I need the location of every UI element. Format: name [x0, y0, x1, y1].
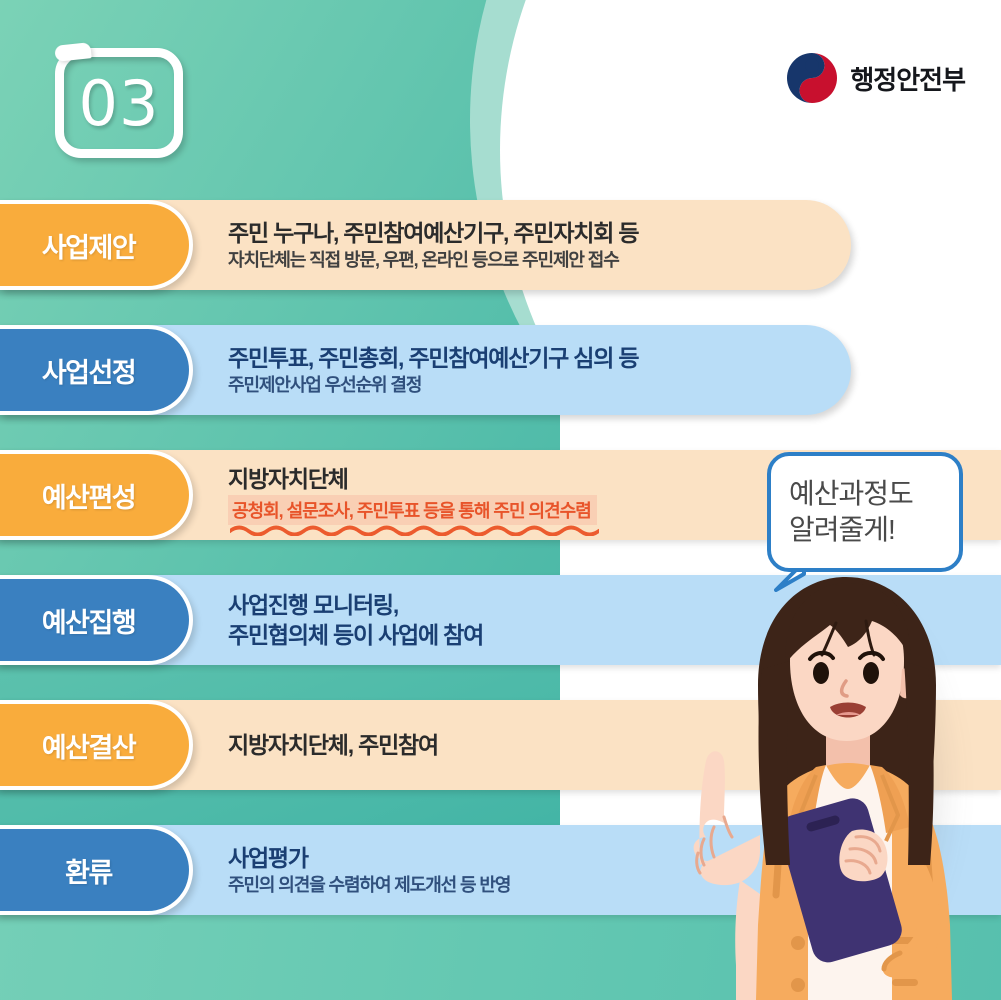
- row-label-pill[interactable]: 사업선정: [0, 325, 193, 415]
- row-highlight-text: 공청회, 설문조사, 주민투표 등을 통해 주민 의견수렴: [228, 495, 597, 525]
- row-label-pill[interactable]: 사업제안: [0, 200, 193, 290]
- process-row-1[interactable]: 사업제안 주민 누구나, 주민참여예산기구, 주민자치회 등 자치단체는 직접 …: [0, 200, 1001, 290]
- speech-bubble-line-1: 예산과정도: [789, 476, 959, 512]
- row-text: 지방자치단체, 주민참여: [228, 700, 438, 790]
- row-label-pill[interactable]: 예산편성: [0, 450, 193, 540]
- row-subtitle: 자치단체는 직접 방문, 우편, 온라인 등으로 주민제안 접수: [228, 249, 638, 272]
- speech-bubble: 예산과정도 알려줄게!: [767, 452, 963, 572]
- row-title: 주민 누구나, 주민참여예산기구, 주민자치회 등: [228, 219, 638, 247]
- ministry-logo: 행정안전부: [786, 52, 965, 104]
- speech-bubble-line-2: 알려줄게!: [789, 512, 959, 548]
- row-title: 지방자치단체, 주민참여: [228, 731, 438, 759]
- row-subtitle: 주민협의체 등이 사업에 참여: [228, 621, 483, 649]
- row-label: 사업선정: [42, 351, 135, 390]
- step-number: 03: [55, 48, 183, 158]
- row-label: 사업제안: [42, 226, 135, 265]
- row-title: 지방자치단체: [228, 465, 597, 493]
- row-label: 환류: [65, 851, 112, 890]
- infographic-canvas: 03 행정안전부 사업제안 주민 누구나, 주민참여예산기구, 주민자치회 등 …: [0, 0, 1001, 1000]
- row-text: 사업진행 모니터링, 주민협의체 등이 사업에 참여: [228, 575, 483, 665]
- row-label: 예산편성: [42, 476, 135, 515]
- row-title: 주민투표, 주민총회, 주민참여예산기구 심의 등: [228, 344, 638, 372]
- row-label: 예산결산: [42, 726, 135, 765]
- row-highlight-wrapper: 공청회, 설문조사, 주민투표 등을 통해 주민 의견수렴: [228, 495, 597, 525]
- row-label-pill[interactable]: 환류: [0, 825, 193, 915]
- woman-with-smartphone-illustration: [640, 565, 1001, 1000]
- korea-government-taegeuk-icon: [786, 52, 838, 104]
- row-subtitle: 주민의 의견을 수렴하여 제도개선 등 반영: [228, 874, 510, 897]
- row-title: 사업진행 모니터링,: [228, 591, 483, 619]
- row-label-pill[interactable]: 예산결산: [0, 700, 193, 790]
- row-label: 예산집행: [42, 601, 135, 640]
- wavy-underline-icon: [230, 524, 599, 536]
- ministry-name: 행정안전부: [850, 60, 965, 97]
- row-text: 주민투표, 주민총회, 주민참여예산기구 심의 등 주민제안사업 우선순위 결정: [228, 325, 638, 415]
- row-subtitle: 주민제안사업 우선순위 결정: [228, 374, 638, 397]
- process-row-2[interactable]: 사업선정 주민투표, 주민총회, 주민참여예산기구 심의 등 주민제안사업 우선…: [0, 325, 1001, 415]
- row-text: 사업평가 주민의 의견을 수렴하여 제도개선 등 반영: [228, 825, 510, 915]
- row-label-pill[interactable]: 예산집행: [0, 575, 193, 665]
- row-title: 사업평가: [228, 844, 510, 872]
- row-text: 지방자치단체 공청회, 설문조사, 주민투표 등을 통해 주민 의견수렴: [228, 450, 597, 540]
- row-text: 주민 누구나, 주민참여예산기구, 주민자치회 등 자치단체는 직접 방문, 우…: [228, 200, 638, 290]
